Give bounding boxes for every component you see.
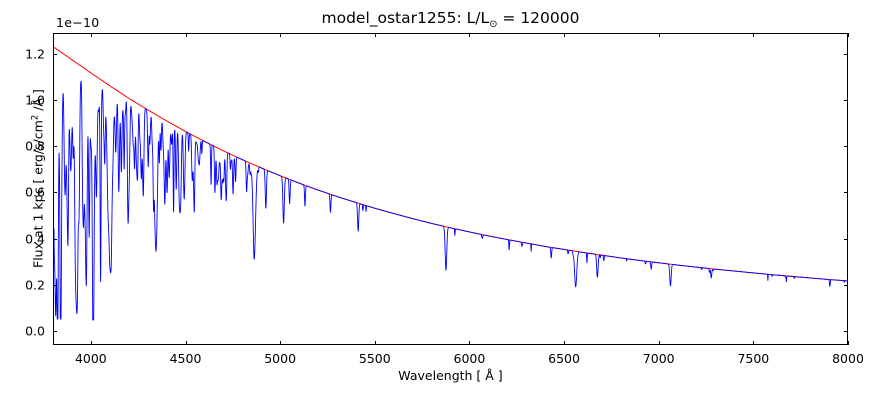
x-tick-mark bbox=[753, 33, 754, 37]
y-axis-label-exponent: 2 bbox=[30, 115, 40, 120]
figure-canvas: model_ostar1255: L/L⊙ = 120000 1e−10 Flu… bbox=[0, 0, 880, 400]
x-tick-label: 8000 bbox=[832, 351, 864, 366]
y-tick-label: 0.6 bbox=[11, 185, 45, 200]
y-tick-mark bbox=[53, 192, 57, 193]
y-tick-mark bbox=[53, 146, 57, 147]
plot-title: model_ostar1255: L/L⊙ = 120000 bbox=[53, 9, 848, 30]
y-tick-mark bbox=[844, 331, 848, 332]
y-tick-label: 0.0 bbox=[11, 324, 45, 339]
x-tick-mark bbox=[280, 33, 281, 37]
y-tick-mark bbox=[53, 100, 57, 101]
x-tick-label: 5500 bbox=[359, 351, 391, 366]
x-tick-mark bbox=[659, 33, 660, 37]
x-tick-label: 7000 bbox=[643, 351, 675, 366]
x-tick-mark bbox=[564, 33, 565, 37]
y-tick-mark bbox=[844, 54, 848, 55]
y-tick-mark bbox=[844, 192, 848, 193]
plot-title-prefix: model_ostar1255: L/L bbox=[321, 9, 489, 27]
y-tick-mark bbox=[53, 331, 57, 332]
spectrum-curve bbox=[54, 81, 847, 320]
x-tick-mark bbox=[469, 33, 470, 37]
x-tick-mark bbox=[564, 341, 565, 345]
x-tick-mark bbox=[659, 341, 660, 345]
x-tick-mark bbox=[469, 341, 470, 345]
x-tick-label: 4500 bbox=[170, 351, 202, 366]
y-tick-mark bbox=[844, 239, 848, 240]
y-tick-mark bbox=[844, 100, 848, 101]
x-tick-mark bbox=[848, 33, 849, 37]
spectrum-plot bbox=[54, 34, 847, 344]
y-tick-mark bbox=[53, 54, 57, 55]
x-tick-mark bbox=[186, 33, 187, 37]
y-tick-label: 1.0 bbox=[11, 93, 45, 108]
plot-title-suffix: = 120000 bbox=[497, 9, 579, 27]
x-tick-mark bbox=[848, 341, 849, 345]
plot-axes bbox=[53, 33, 848, 345]
x-tick-mark bbox=[91, 33, 92, 37]
y-axis-offset-text: 1e−10 bbox=[56, 15, 100, 30]
x-tick-mark bbox=[186, 341, 187, 345]
x-tick-mark bbox=[375, 341, 376, 345]
y-tick-label: 0.2 bbox=[11, 277, 45, 292]
y-tick-mark bbox=[844, 146, 848, 147]
x-tick-mark bbox=[375, 33, 376, 37]
y-tick-mark bbox=[844, 285, 848, 286]
y-tick-label: 0.4 bbox=[11, 231, 45, 246]
x-tick-label: 4000 bbox=[75, 351, 107, 366]
y-tick-mark bbox=[53, 239, 57, 240]
x-tick-label: 5000 bbox=[264, 351, 296, 366]
x-tick-label: 6500 bbox=[548, 351, 580, 366]
y-tick-label: 0.8 bbox=[11, 139, 45, 154]
x-tick-mark bbox=[753, 341, 754, 345]
y-tick-label: 1.2 bbox=[11, 46, 45, 61]
x-axis-label: Wavelength [ Å ] bbox=[53, 368, 848, 383]
y-tick-mark bbox=[53, 285, 57, 286]
x-tick-label: 6000 bbox=[454, 351, 486, 366]
x-tick-label: 7500 bbox=[737, 351, 769, 366]
x-tick-mark bbox=[91, 341, 92, 345]
x-tick-mark bbox=[280, 341, 281, 345]
